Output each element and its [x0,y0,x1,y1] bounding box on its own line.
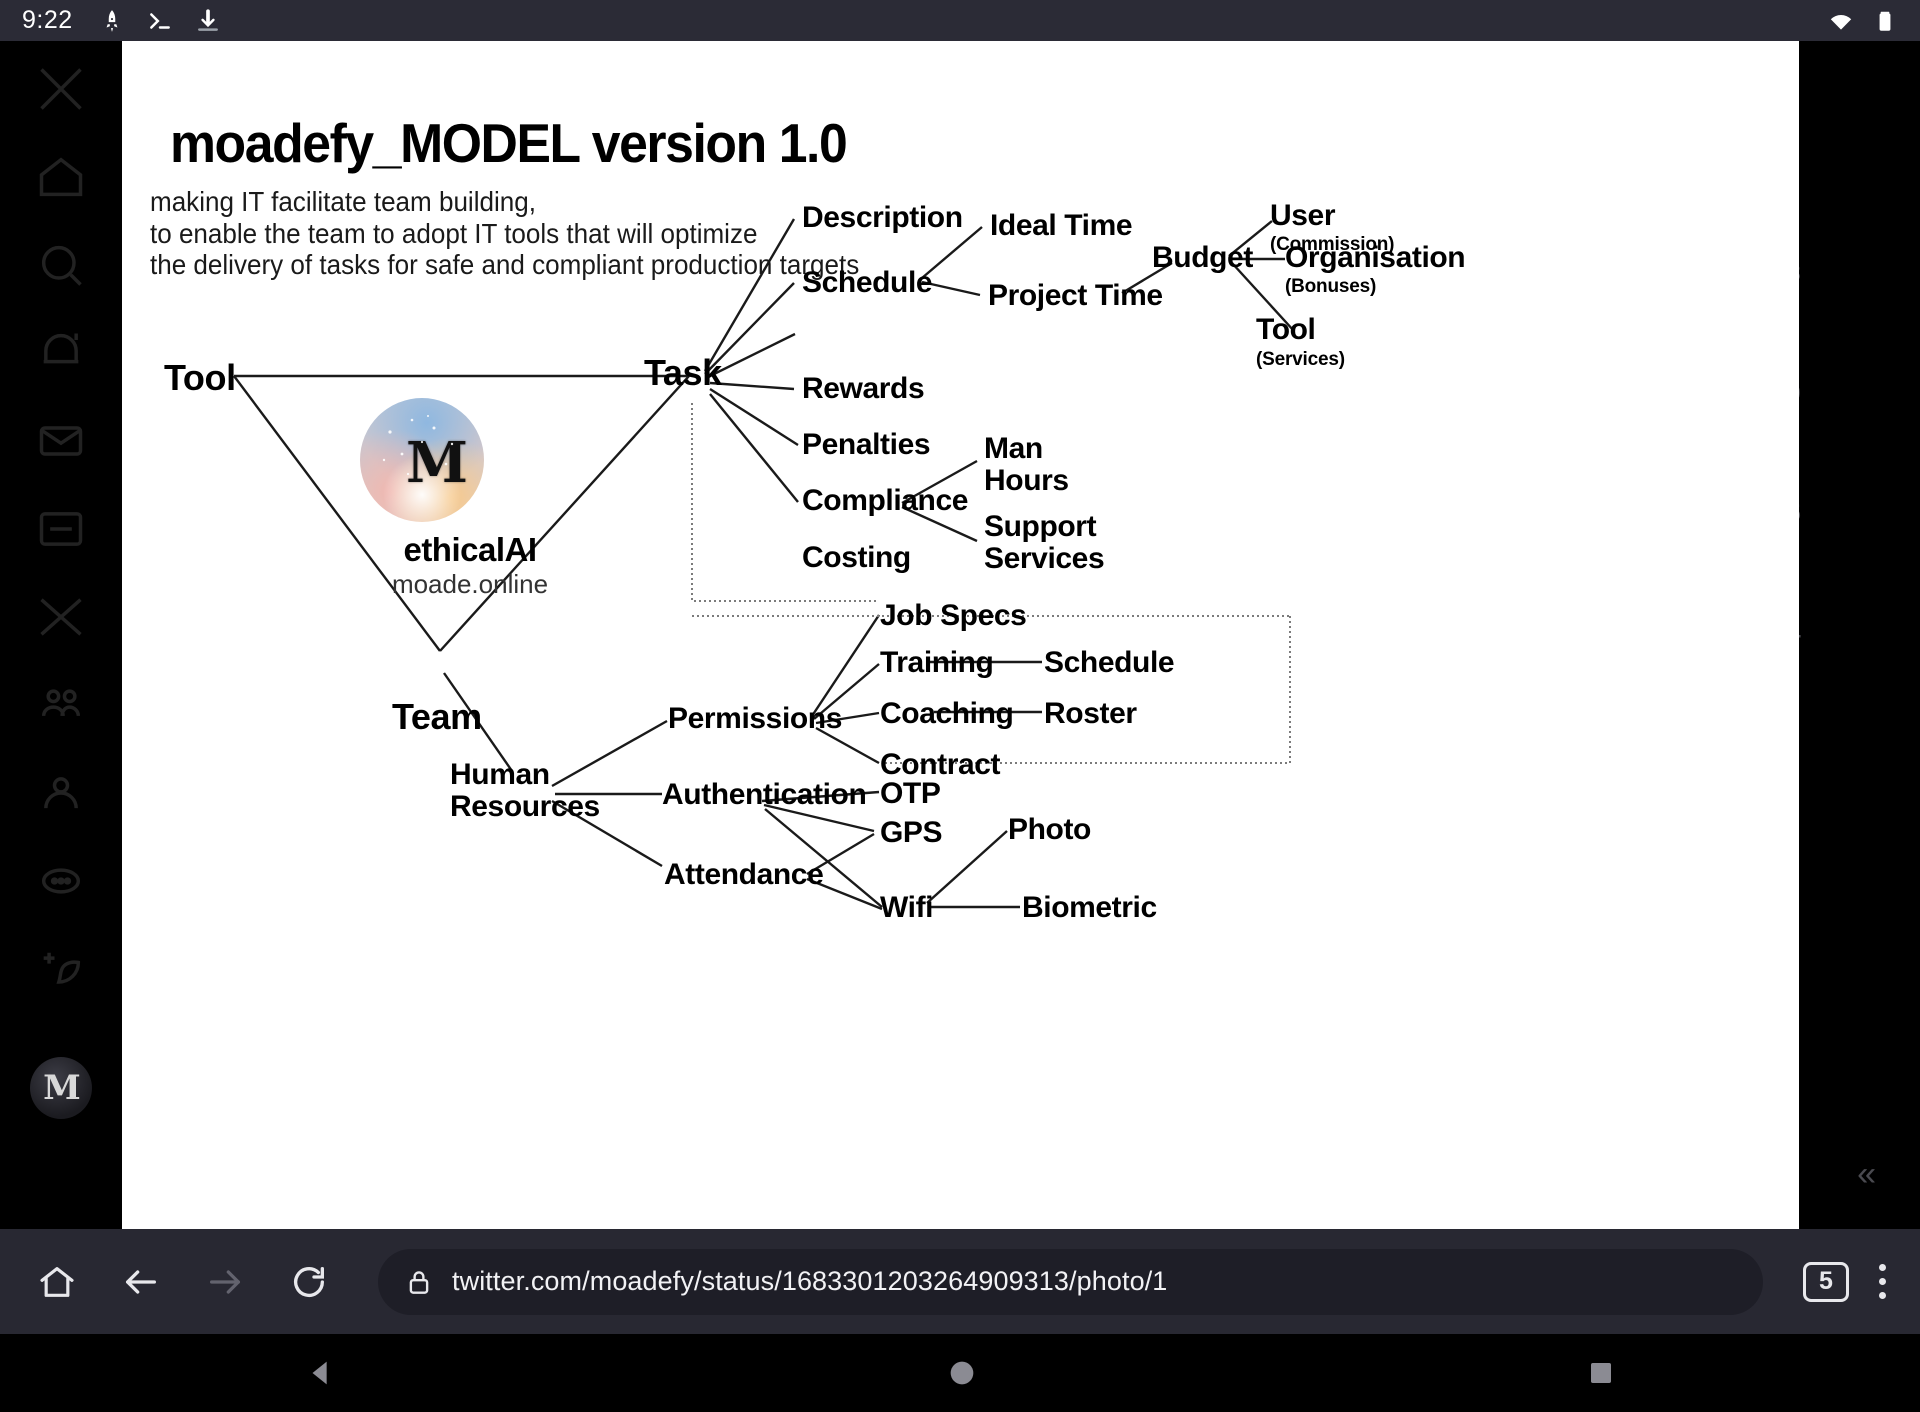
node-support-services: Support Services [984,511,1104,574]
node-otp: OTP [880,777,940,811]
node-human-resources: Human Resources [450,759,600,822]
scroll-up-icon[interactable]: « [1857,1155,1876,1194]
sidebar-item-grok[interactable] [35,591,87,643]
sidebar-item-messages[interactable] [35,415,87,467]
menu-icon[interactable] [1879,1264,1886,1299]
address-bar[interactable]: twitter.com/moadefy/status/1683301203264… [378,1249,1763,1315]
node-authentication: Authentication [662,778,866,812]
back-triangle-icon[interactable] [304,1356,338,1390]
node-attendance: Attendance [664,858,823,892]
sidebar-item-profile[interactable] [35,767,87,819]
orb-stars-icon [360,398,484,522]
sidebar-item-more[interactable] [35,855,87,907]
node-user: User [1270,199,1335,233]
sidebar-item-lists[interactable] [35,503,87,555]
node-penalties: Penalties [802,428,930,462]
node-photo: Photo [1008,813,1091,847]
sidebar-item-explore[interactable] [35,239,87,291]
rocket-icon [99,8,125,34]
sidebar-item-home[interactable] [35,151,87,203]
ethicalai-logo: M [360,398,484,522]
node-team: Team [392,696,482,738]
forward-button[interactable] [196,1253,254,1311]
sidebar-item-notifications[interactable] [35,327,87,379]
device-screen: 9:22 [0,0,1920,1412]
status-bar: 9:22 [0,0,1920,41]
browser-toolbar: twitter.com/moadefy/status/1683301203264… [0,1229,1920,1334]
recents-square-icon[interactable] [1586,1358,1616,1388]
tab-count-button[interactable]: 5 [1803,1262,1849,1302]
node-organisation-subtext: (Bonuses) [1285,276,1376,298]
node-description: Description [802,201,963,235]
lock-icon [404,1267,434,1297]
node-wifi: Wifi [880,891,933,925]
node-ideal-time: Ideal Time [990,209,1132,243]
reload-button[interactable] [280,1253,338,1311]
x-logo-icon[interactable] [35,63,87,115]
node-costing: Costing [802,541,911,575]
node-roster: Roster [1044,697,1137,731]
moadefy-model-diagram: moadefy_MODEL version 1.0 making IT faci… [122,41,1799,1230]
diagram-title: moadefy_MODEL version 1.0 [170,111,846,175]
status-clock: 9:22 [22,6,73,35]
wifi-icon [1828,8,1854,34]
brand-name: ethicalAI [350,531,590,569]
node-rewards: Rewards [802,372,924,406]
node-tool-services-subtext: (Services) [1256,349,1345,371]
terminal-icon [147,8,173,34]
sidebar-item-communities[interactable] [35,679,87,731]
battery-icon [1872,8,1898,34]
node-coaching: Coaching [880,697,1013,731]
home-button[interactable] [28,1253,86,1311]
brand-url: moade.online [350,569,590,600]
node-tool: Tool [164,357,236,399]
node-training: Training [880,646,993,680]
android-navigation-bar [0,1334,1920,1412]
diagram-tagline: making IT facilitate team building, to e… [150,186,859,281]
node-tool-services: Tool [1256,313,1315,347]
avatar-initial: M [43,1068,79,1108]
home-circle-icon[interactable] [945,1356,979,1390]
compose-icon[interactable] [35,943,87,995]
twitter-sidebar: M [0,41,122,1229]
node-training-schedule: Schedule [1044,646,1174,680]
node-biometric: Biometric [1022,891,1157,925]
avatar[interactable]: M [30,1057,92,1119]
node-task: Task [644,352,722,394]
node-schedule: Schedule [802,266,932,300]
node-job-specs: Job Specs [880,599,1026,633]
node-compliance: Compliance [802,484,968,518]
url-text: twitter.com/moadefy/status/1683301203264… [452,1266,1167,1297]
tweet-photo[interactable]: moadefy_MODEL version 1.0 making IT faci… [122,41,1799,1230]
node-project-time: Project Time [988,279,1163,313]
node-organisation: Organisation [1285,241,1465,275]
back-button[interactable] [112,1253,170,1311]
download-icon [195,8,221,34]
node-man-hours: Man Hours [984,433,1069,496]
node-permissions: Permissions [668,702,842,736]
node-gps: GPS [880,816,942,850]
node-budget: Budget [1152,241,1253,275]
